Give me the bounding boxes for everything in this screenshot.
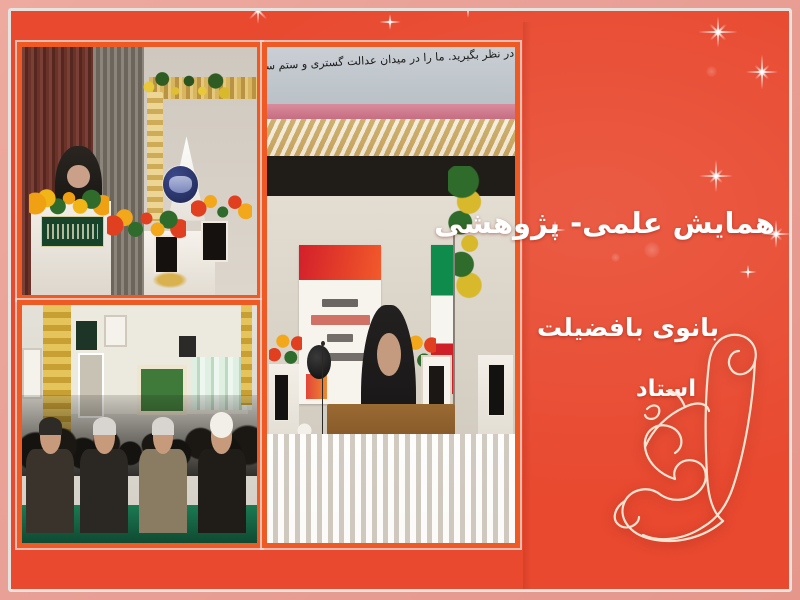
bl-loudspeaker [179,336,195,357]
calligraphy-signature-svg [581,311,771,571]
bl-guest-1 [24,419,76,533]
mn-banner-line-1 [322,299,358,307]
bl-guest-1-hair [39,417,62,435]
mn-banner-red-header [299,245,381,280]
tl-greenery-garland [140,67,229,107]
photo-top-left[interactable] [17,42,262,300]
bl-cleric-guest [196,419,248,533]
photo-top-left-scene [22,47,257,295]
mn-overhead-banner: در نظر بگیرید. ما را در میدان عدالت گستر… [267,47,515,107]
photo-bottom-left-scene [22,305,257,543]
bl-cleric-body [198,449,246,534]
tl-decorative-column [147,92,163,221]
bl-window [104,315,127,348]
bl-wall-sign [74,319,99,352]
bl-guest-1-body [26,449,74,534]
tl-portrait-frame-2 [201,221,229,262]
mn-portrait-right [488,364,505,416]
bl-guest-3 [137,419,189,533]
calligraphy-signature [581,311,771,571]
bl-window-left [22,348,42,400]
mn-pink-strip [267,104,515,121]
photo-collage: در نظر بگیرید. ما را در میدان عدالت گستر… [15,28,523,544]
bl-gold-pillar-right [241,305,253,405]
poster-red-card: در نظر بگیرید. ما را در میدان عدالت گستر… [11,11,789,589]
bl-guest-2-body [80,449,128,534]
photo-main[interactable]: در نظر بگیرید. ما را در میدان عدالت گستر… [262,42,520,548]
mn-stage-drape [267,434,515,543]
tl-flowers-center [107,206,187,246]
bl-guest-3-body [139,449,187,534]
mn-ornamental-band [267,119,515,156]
tl-gold-motif [149,270,191,290]
mn-banner-line-2 [311,315,370,325]
photo-bottom-left[interactable] [17,300,262,548]
bl-guest-3-hair [152,417,175,435]
tl-flowers-right [191,191,252,226]
mn-flowers-left [269,325,301,380]
bl-cleric-turban [210,412,233,437]
photo-main-scene: در نظر بگیرید. ما را در میدان عدالت گستر… [267,47,515,543]
bl-guest-2-hair [93,417,116,435]
bl-front-row [22,419,257,533]
mn-overhead-banner-text: در نظر بگیرید. ما را در میدان عدالت گستر… [267,48,515,103]
mn-banner-line-3 [327,334,353,342]
mn-flag-pole [453,226,455,424]
bl-guest-2 [78,419,130,533]
poster-canvas: در نظر بگیرید. ما را در میدان عدالت گستر… [0,0,800,600]
tl-flowers-left [29,186,109,221]
